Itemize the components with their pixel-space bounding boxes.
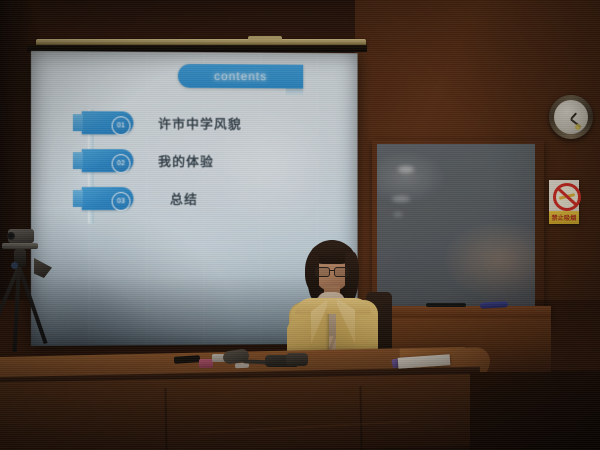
no-smoking-sign: 禁止吸烟	[549, 180, 579, 224]
stage-shadow-area	[470, 372, 600, 450]
tripod-mount-plate	[2, 243, 38, 249]
agenda-number: 01	[112, 116, 131, 135]
glasses-icon	[314, 267, 350, 275]
agenda-label: 总结	[170, 185, 198, 211]
jacket-shoulders	[295, 298, 371, 314]
tripod-adjust-knob	[11, 262, 18, 269]
sign-text-band: 禁止吸烟	[549, 211, 579, 224]
camera-lens-icon	[7, 232, 15, 240]
whiteboard-glare	[392, 196, 410, 202]
microphone-base-secondary	[286, 353, 308, 366]
hair-right-strand	[345, 252, 359, 302]
agenda-list: 01 许市中学风貌 02 我的体验 03 总结	[71, 109, 327, 223]
bookmark-flag-icon: 02	[82, 149, 134, 172]
whiteboard-glare	[398, 166, 414, 173]
whiteboard-glare	[393, 212, 403, 217]
screen-roller-bracket	[248, 36, 282, 41]
slide-title-banner: contents	[178, 64, 303, 89]
bookmark-flag-icon: 03	[82, 187, 134, 210]
agenda-item-02: 02 我的体验	[71, 147, 327, 185]
clock-hour-hand	[570, 112, 577, 119]
desk-object-pink	[199, 359, 213, 368]
desk-object-light	[235, 363, 249, 369]
sign-text: 禁止吸烟	[552, 213, 577, 222]
lecture-hall-photo: contents 01 许市中学风貌 02 我的体验 03 总结	[0, 0, 600, 450]
agenda-number: 03	[112, 192, 131, 211]
slide-title: contents	[178, 64, 303, 89]
prohibition-circle-icon	[553, 183, 581, 211]
agenda-item-01: 01 许市中学风貌	[71, 109, 327, 148]
agenda-label: 许市中学风貌	[158, 110, 242, 136]
hair-left-strand	[307, 254, 319, 300]
glasses-bridge	[330, 270, 335, 271]
agenda-number: 02	[112, 154, 131, 173]
clock-logo-mark	[575, 124, 581, 130]
clock-face	[554, 100, 588, 134]
agenda-label: 我的体验	[158, 147, 214, 173]
wall-clock	[549, 95, 593, 139]
podium-front-panel	[0, 374, 491, 450]
agenda-item-03: 03 总结	[71, 185, 327, 223]
bookmark-flag-icon: 01	[82, 111, 134, 134]
whiteboard-eraser	[426, 303, 466, 307]
